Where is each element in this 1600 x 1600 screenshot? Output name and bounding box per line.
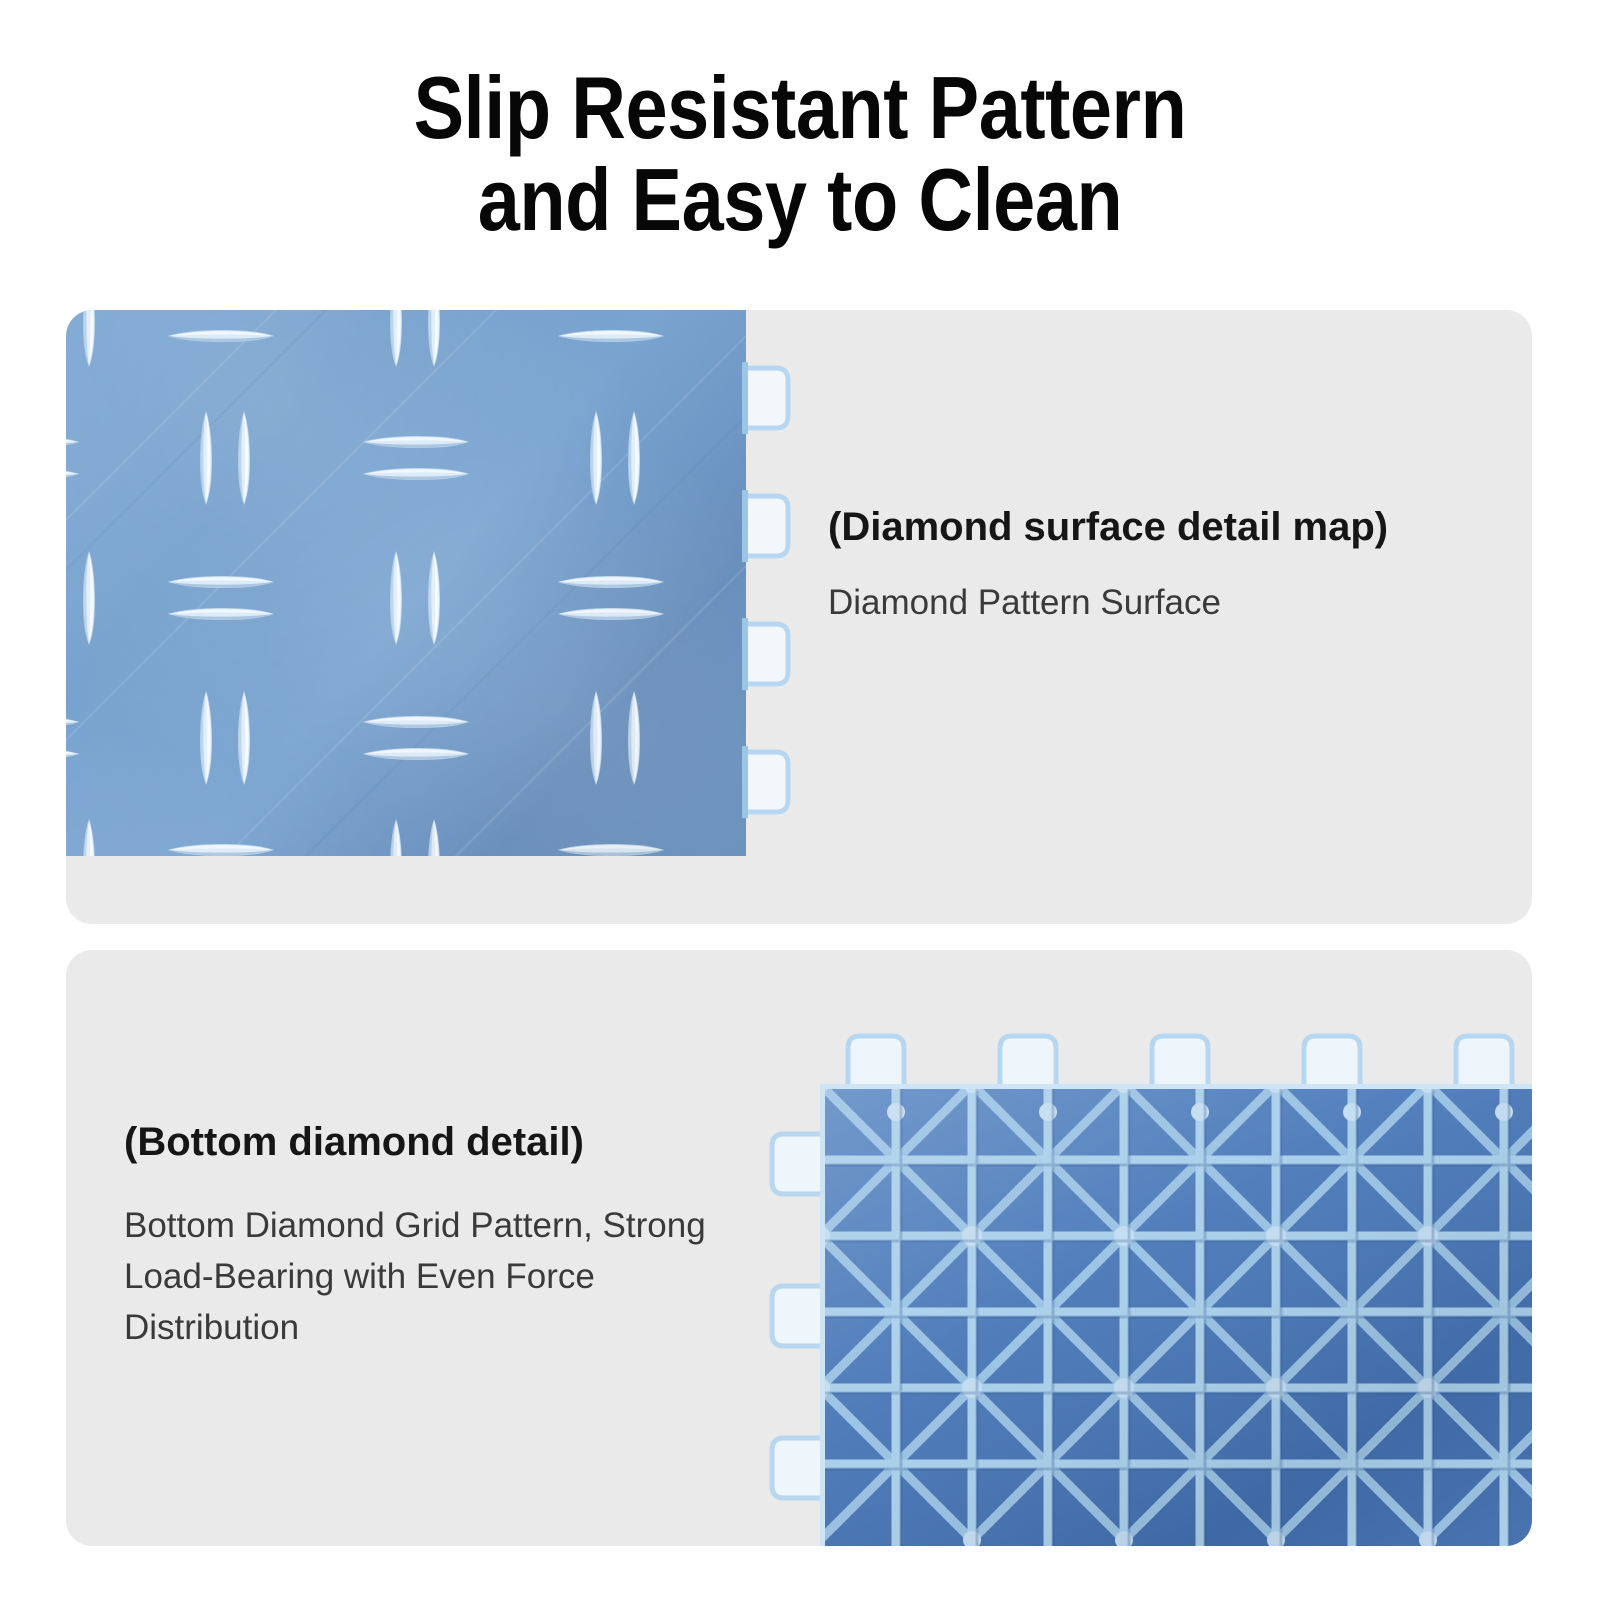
- connector-tab: [1000, 1036, 1056, 1084]
- bottom-grid-caption-title: (Bottom diamond detail): [124, 1118, 744, 1166]
- diamond-plate-tile-image: [66, 310, 806, 856]
- underside-grid-body: [810, 1075, 1532, 1546]
- underside-grid-svg: [752, 1022, 1532, 1546]
- connector-tab: [772, 1134, 820, 1194]
- connector-tab: [1304, 1036, 1360, 1084]
- connector-tab-column-right: [742, 310, 806, 856]
- connector-tab: [1456, 1036, 1512, 1084]
- page-title-line-2: and Easy to Clean: [112, 154, 1488, 246]
- connector-tab-column-left: [772, 1134, 820, 1498]
- connector-tab: [772, 1438, 820, 1498]
- connector-tab: [1152, 1036, 1208, 1084]
- bottom-grid-caption: (Bottom diamond detail) Bottom Diamond G…: [124, 1118, 744, 1353]
- diamond-surface-caption-title: (Diamond surface detail map): [828, 503, 1488, 551]
- connector-tab: [744, 368, 788, 428]
- connector-tab: [744, 624, 788, 684]
- connector-tab: [848, 1036, 904, 1084]
- connector-tab: [772, 1286, 820, 1346]
- diamond-surface-caption: (Diamond surface detail map) Diamond Pat…: [828, 503, 1488, 628]
- page-title: Slip Resistant Pattern and Easy to Clean: [0, 62, 1600, 246]
- connector-tab: [744, 752, 788, 812]
- bottom-grid-caption-body: Bottom Diamond Grid Pattern, Strong Load…: [124, 1200, 744, 1353]
- page-title-line-1: Slip Resistant Pattern: [112, 62, 1488, 154]
- connector-tabs-svg: [742, 310, 806, 856]
- connector-tab: [744, 496, 788, 556]
- diamond-plate-pattern-svg: [66, 310, 746, 856]
- panel-diamond-surface: (Diamond surface detail map) Diamond Pat…: [66, 310, 1532, 924]
- tile-underside-image: [752, 1022, 1532, 1546]
- diamond-plate-surface: [66, 310, 746, 856]
- panel-bottom-grid: (Bottom diamond detail) Bottom Diamond G…: [66, 950, 1532, 1546]
- connector-tab-row-top: [848, 1036, 1512, 1084]
- diamond-surface-caption-body: Diamond Pattern Surface: [828, 577, 1488, 628]
